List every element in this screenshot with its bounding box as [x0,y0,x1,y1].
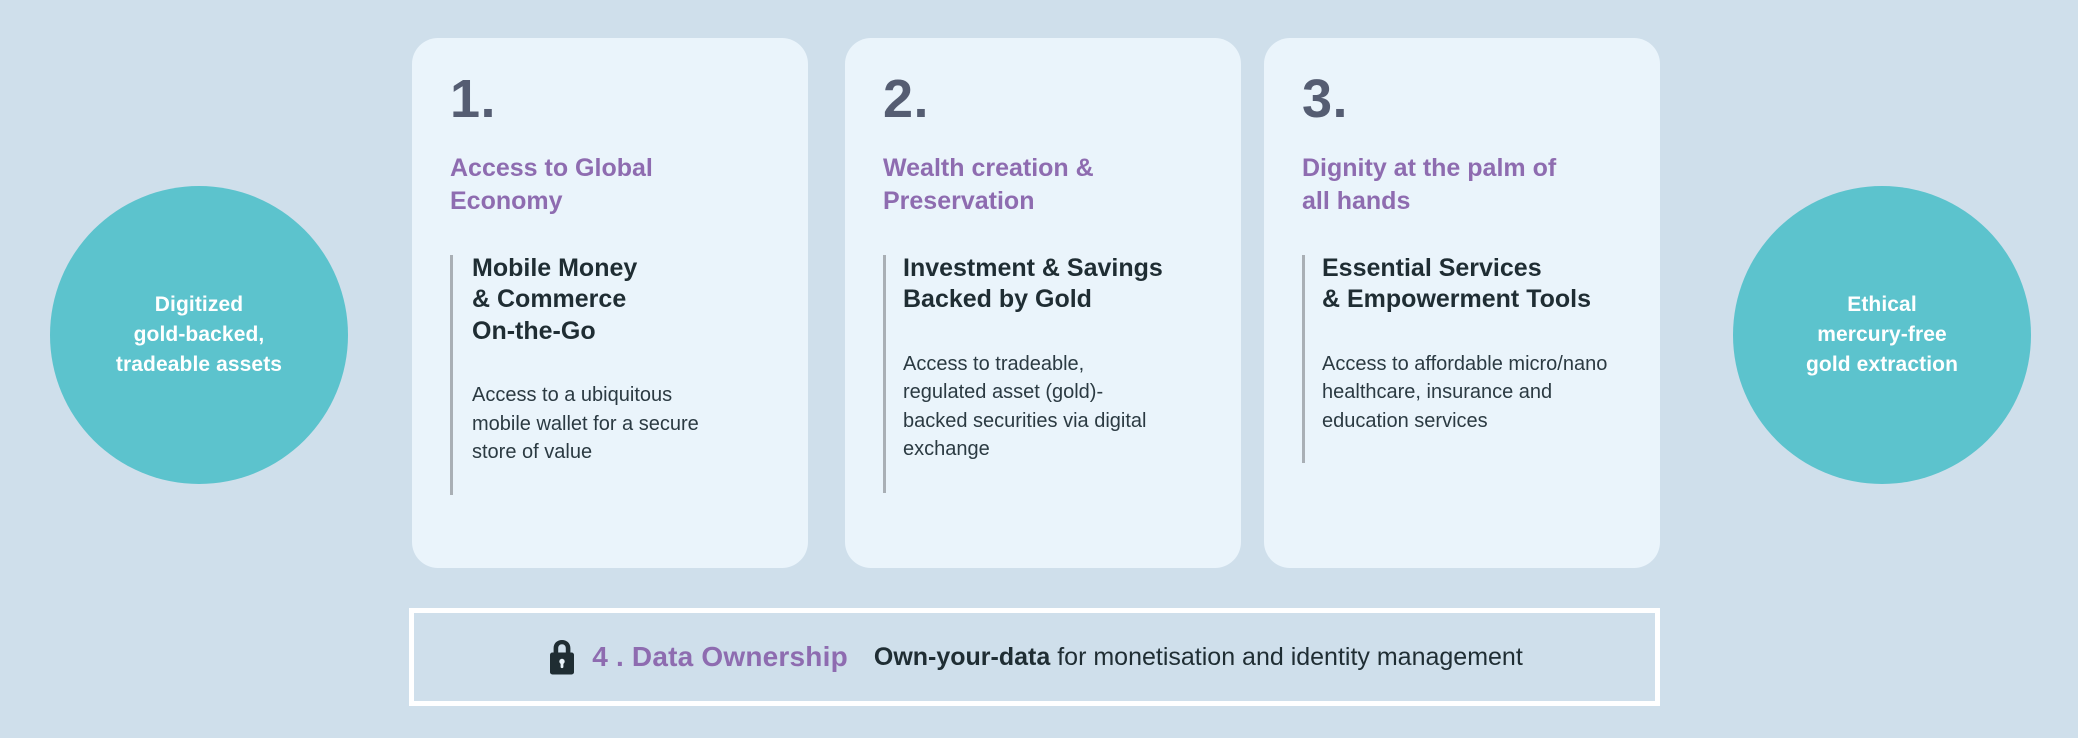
card-1-title: Access to Global Economy [450,152,770,219]
banner-label: 4 . Data Ownership [592,641,848,673]
infographic-canvas: Digitized gold-backed, tradeable assets … [0,0,2078,738]
card-2-text: Access to tradeable, regulated asset (go… [903,350,1203,464]
card-2-body: Investment & Savings Backed by Gold Acce… [883,253,1203,464]
vertical-rule [1302,255,1305,463]
banner-description-rest: for monetisation and identity management [1050,643,1523,671]
data-ownership-banner: 4 . Data Ownership Own-your-data for mon… [409,608,1660,706]
pillar-card-3: 3. Dignity at the palm of all hands Esse… [1264,38,1660,568]
banner-description-bold: Own-your-data [874,643,1050,671]
pillar-card-2: 2. Wealth creation & Preservation Invest… [845,38,1241,568]
circle-right-text: Ethical mercury-free gold extraction [1806,290,1958,379]
pillar-card-1: 1. Access to Global Economy Mobile Money… [412,38,808,568]
card-1-number: 1. [450,72,770,126]
circle-left-text: Digitized gold-backed, tradeable assets [116,290,282,379]
vertical-rule [450,255,453,495]
card-2-title: Wealth creation & Preservation [883,152,1203,219]
circle-digitized-gold-assets: Digitized gold-backed, tradeable assets [50,186,348,484]
banner-description: Own-your-data for monetisation and ident… [874,645,1523,670]
card-3-body: Essential Services & Empowerment Tools A… [1302,253,1622,436]
card-1-text: Access to a ubiquitous mobile wallet for… [472,381,770,467]
card-2-number: 2. [883,72,1203,126]
card-3-heading: Essential Services & Empowerment Tools [1322,253,1622,316]
lock-icon [546,638,578,676]
circle-ethical-gold-extraction: Ethical mercury-free gold extraction [1733,186,2031,484]
card-3-title: Dignity at the palm of all hands [1302,152,1622,219]
card-3-text: Access to affordable micro/nano healthca… [1322,350,1622,436]
card-2-heading: Investment & Savings Backed by Gold [903,253,1203,316]
card-1-body: Mobile Money & Commerce On-the-Go Access… [450,253,770,467]
card-1-heading: Mobile Money & Commerce On-the-Go [472,253,770,348]
banner-content: 4 . Data Ownership Own-your-data for mon… [546,638,1523,676]
vertical-rule [883,255,886,493]
card-3-number: 3. [1302,72,1622,126]
